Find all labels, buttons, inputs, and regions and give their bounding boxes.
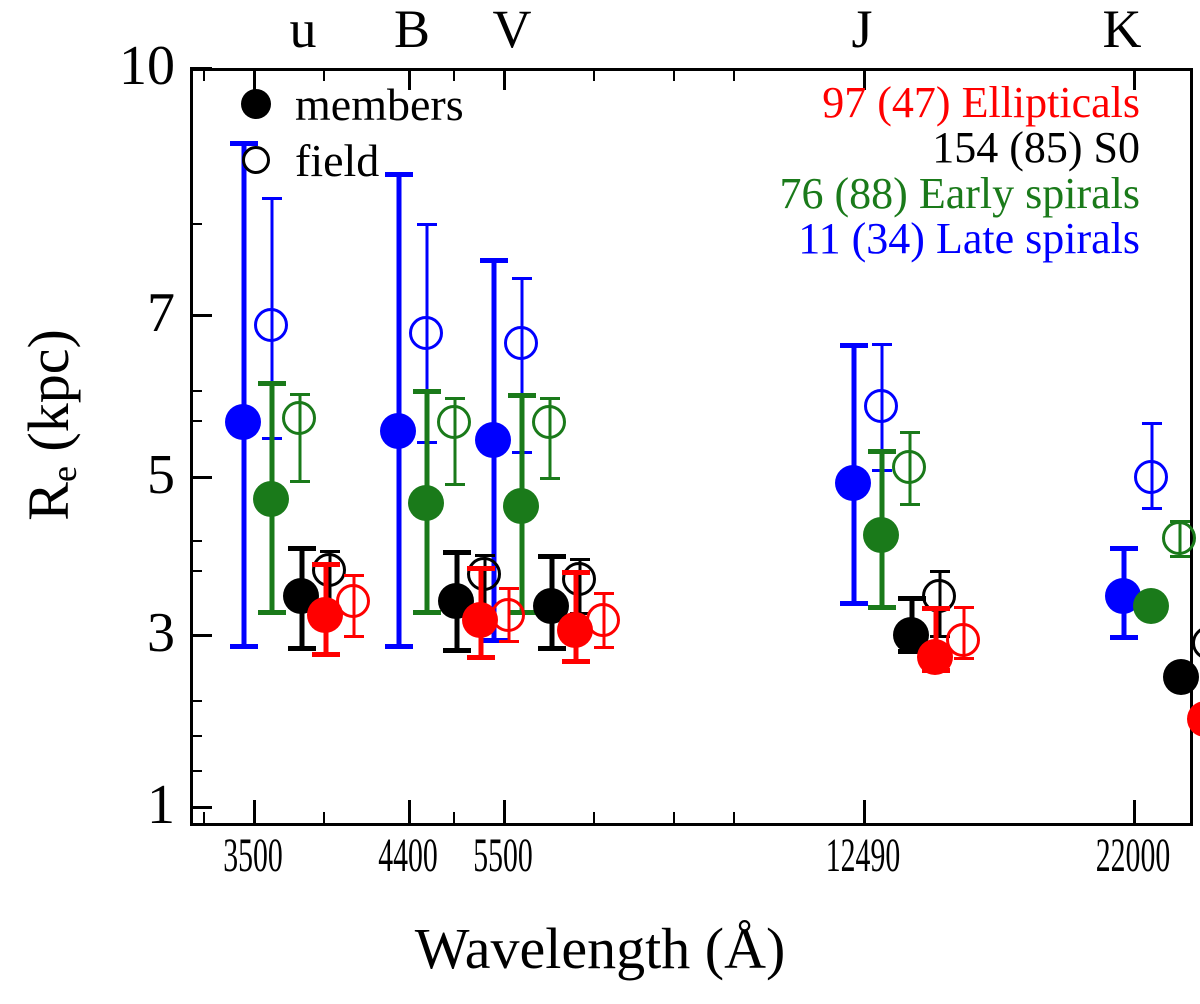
x-top-minor-tick: [593, 68, 595, 81]
legend-label-members: members: [295, 78, 464, 131]
top-axis-label-K: K: [1022, 2, 1200, 56]
x-minor-tick: [733, 812, 735, 826]
y-axis-title-main: R: [16, 482, 81, 521]
errorbar-Late spirals-members-B: [398, 172, 399, 648]
x-tick-label-12490: 12490: [789, 832, 938, 880]
y-minor-tick: [190, 540, 202, 542]
point-Early spirals-members-B: [408, 485, 444, 521]
y-minor-tick: [190, 735, 202, 737]
x-top-minor-tick: [733, 68, 735, 81]
x-axis-title: Wavelength (Å): [0, 915, 1200, 982]
y-minor-tick: [190, 700, 202, 702]
x-minor-tick: [593, 812, 595, 826]
key-ellipticals: 97 (47) Ellipticals: [780, 80, 1140, 125]
point-Ellipticals-members-u: [307, 597, 343, 633]
legend-row-field: field: [225, 134, 464, 186]
y-tick-label-1: 1: [55, 777, 175, 833]
point-Early spirals-members-K: [1133, 588, 1169, 624]
y-minor-tick: [190, 770, 202, 772]
top-axis-label-V: V: [412, 2, 612, 56]
errorbar-Late spirals-members-u: [243, 141, 244, 649]
open-circle-icon: [225, 146, 287, 174]
x-tick-22000: [1133, 800, 1136, 826]
point-Late spirals-members-B: [380, 413, 416, 449]
legend-row-members: members: [225, 78, 464, 130]
x-tick-label-3500: 3500: [179, 832, 328, 880]
point-S0-field-K: [1192, 626, 1200, 660]
marker-legend: members field: [225, 78, 464, 190]
x-minor-tick: [453, 812, 455, 826]
point-Early spirals-field-u: [282, 401, 316, 435]
point-S0-field-V: [562, 562, 596, 596]
point-Late spirals-members-J: [835, 465, 871, 501]
y-axis-title-unit: (kpc): [16, 329, 81, 466]
key-early-spirals: 76 (88) Early spirals: [780, 171, 1140, 216]
key-late-spirals: 11 (34) Late spirals: [780, 216, 1140, 261]
point-Ellipticals-members-B: [462, 602, 498, 638]
x-tick-12490: [863, 800, 866, 826]
top-axis-label-J: J: [762, 2, 962, 56]
y-minor-tick: [190, 223, 202, 225]
x-top-minor-tick: [673, 68, 675, 81]
x-top-tick: [503, 68, 506, 90]
x-top-minor-tick: [203, 68, 205, 81]
y-tick-7: [190, 314, 212, 317]
category-key-list: 97 (47) Ellipticals 154 (85) S0 76 (88) …: [780, 80, 1140, 261]
point-Early spirals-members-V: [503, 488, 539, 524]
x-tick-label-22000: 22000: [1059, 832, 1200, 880]
y-minor-tick: [190, 570, 202, 572]
y-tick-10: [190, 67, 212, 70]
key-s0: 154 (85) S0: [780, 125, 1140, 170]
y-axis-title-subscript: e: [44, 466, 84, 482]
x-minor-tick: [203, 812, 205, 826]
x-tick-label-5500: 5500: [429, 832, 578, 880]
point-Early spirals-members-J: [863, 517, 899, 553]
y-minor-tick: [190, 390, 202, 392]
x-tick-5500: [503, 800, 506, 826]
y-tick-3: [190, 634, 212, 637]
x-tick-4400: [408, 800, 411, 826]
filled-circle-icon: [225, 89, 287, 119]
y-minor-tick: [190, 420, 202, 422]
point-Late spirals-field-B: [409, 316, 443, 350]
legend-label-field: field: [295, 134, 379, 187]
x-tick-3500: [253, 800, 256, 826]
point-S0-members-K: [1163, 659, 1199, 695]
point-Late spirals-field-K: [1134, 460, 1168, 494]
y-tick-label-10: 10: [55, 38, 175, 94]
y-axis-title: Re (kpc): [15, 225, 85, 625]
y-tick-5: [190, 476, 212, 479]
point-Late spirals-field-J: [864, 389, 898, 423]
point-Ellipticals-members-V: [557, 612, 593, 648]
point-Late spirals-members-V: [475, 422, 511, 458]
x-minor-tick: [673, 812, 675, 826]
x-minor-tick: [323, 812, 325, 826]
y-tick-1: [190, 806, 212, 809]
point-S0-field-u: [312, 553, 346, 587]
